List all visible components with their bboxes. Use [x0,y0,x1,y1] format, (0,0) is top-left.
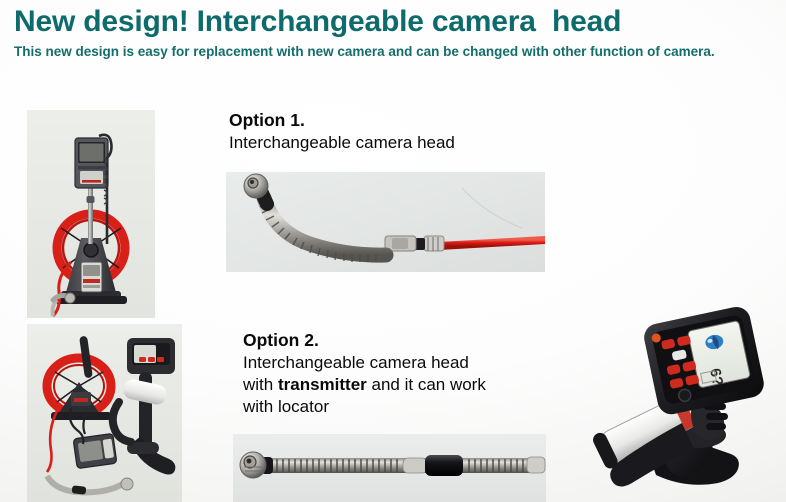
option-2-text-block: Option 2. Interchangeable camera head wi… [243,330,486,418]
option-2-heading: Option 2. [243,330,486,352]
option-1-text-block: Option 1. Interchangeable camera head [229,110,455,154]
photo-pipe-inspection-system [27,110,155,318]
svg-text:6?: 6? [706,367,726,388]
pipe-inspection-system-illustration [27,110,155,318]
option-1-line-1: Interchangeable camera head [229,132,455,154]
photo-camera-head-option-2 [233,434,546,502]
handheld-locator-illustration: 6? [578,303,786,502]
photo-camera-reel-with-locator [27,324,182,502]
page-title: New design! Interchangeable camera head [14,6,772,38]
option-2-line-2: with transmitter and it can work [243,374,486,396]
option-2-line-2-pre: with [243,375,278,394]
camera-reel-kit-illustration [27,324,182,502]
option-2-line-2-post: and it can work [367,375,486,394]
camera-head-option-2-illustration [233,434,546,502]
photo-camera-head-option-1 [226,172,545,272]
camera-head-option-1-illustration [226,172,545,272]
option-1-heading: Option 1. [229,110,455,132]
slide-canvas: New design! Interchangeable camera head … [0,0,786,502]
photo-handheld-locator: 6? [578,303,786,502]
option-2-transmitter-emphasis: transmitter [278,375,367,394]
slide-header: New design! Interchangeable camera head … [14,6,772,60]
option-2-line-1: Interchangeable camera head [243,352,486,374]
option-2-line-3: with locator [243,396,486,418]
page-subtitle: This new design is easy for replacement … [14,43,766,60]
